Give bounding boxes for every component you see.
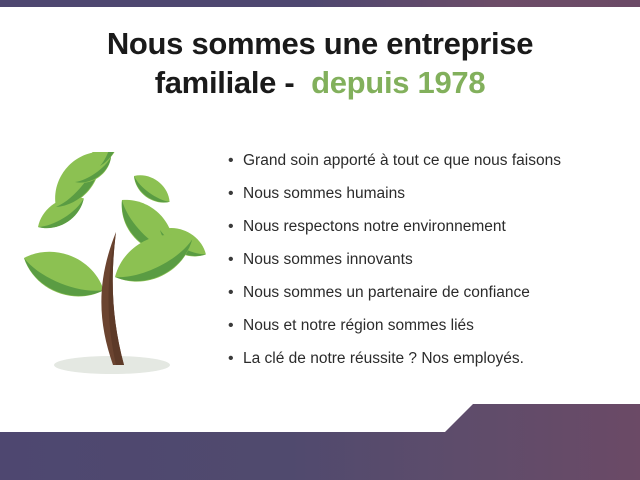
list-item: • Nous sommes innovants (228, 249, 628, 282)
list-item: • Nous respectons notre environnement (228, 216, 628, 249)
bullet-marker-icon: • (228, 183, 243, 204)
bullet-marker-icon: • (228, 216, 243, 237)
title-line-2-accent: depuis 1978 (311, 65, 485, 100)
list-item: • Nous sommes humains (228, 183, 628, 216)
list-item: • La clé de notre réussite ? Nos employé… (228, 348, 628, 381)
page-title: Nous sommes une entreprise familiale - d… (0, 26, 640, 101)
list-item: • Nous et notre région sommes liés (228, 315, 628, 348)
tree-illustration (12, 152, 212, 387)
list-item-label: Nous sommes innovants (243, 249, 413, 270)
list-item-label: La clé de notre réussite ? Nos employés. (243, 348, 524, 369)
leaf-lower-left (17, 240, 111, 308)
title-line-2: familiale - depuis 1978 (0, 65, 640, 102)
bullet-marker-icon: • (228, 348, 243, 369)
list-item-label: Grand soin apporté à tout ce que nous fa… (243, 150, 561, 171)
footer-shape-path (0, 404, 640, 480)
title-line-2-prefix: familiale (155, 65, 276, 100)
slide-canvas: Nous sommes une entreprise familiale - d… (0, 0, 640, 480)
list-item: • Nous sommes un partenaire de confiance (228, 282, 628, 315)
value-list: • Grand soin apporté à tout ce que nous … (228, 150, 628, 381)
bullet-marker-icon: • (228, 150, 243, 171)
footer-band: tabor-automobiles.fr (0, 400, 640, 480)
bullet-marker-icon: • (228, 282, 243, 303)
top-accent-bar (0, 0, 640, 7)
title-line-2-dash: - (284, 65, 294, 100)
bullet-marker-icon: • (228, 249, 243, 270)
list-item: • Grand soin apporté à tout ce que nous … (228, 150, 628, 183)
bullet-marker-icon: • (228, 315, 243, 336)
list-item-label: Nous sommes humains (243, 183, 405, 204)
list-item-label: Nous et notre région sommes liés (243, 315, 474, 336)
list-item-label: Nous sommes un partenaire de confiance (243, 282, 530, 303)
title-line-1: Nous sommes une entreprise (0, 26, 640, 63)
list-item-label: Nous respectons notre environnement (243, 216, 506, 237)
